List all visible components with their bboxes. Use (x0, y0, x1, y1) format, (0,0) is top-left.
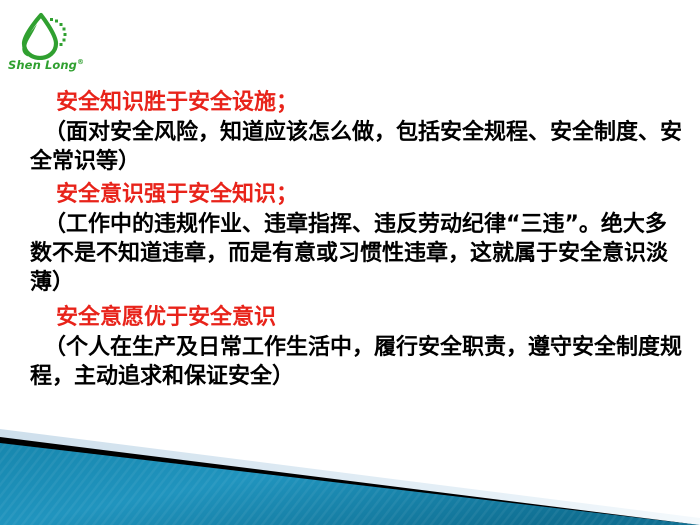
banner-black-band (0, 437, 700, 525)
paragraph-3: （个人在生产及日常工作生活中，履行安全职责，遵守安全制度规程，主动追求和保证安全… (0, 333, 700, 391)
paragraph-2: （工作中的违规作业、违章指挥、违反劳动纪律“三违”。绝大多数不是不知道违章，而是… (0, 210, 700, 297)
heading-3: 安全意愿优于安全意识 (0, 303, 700, 333)
paragraph-1: （面对安全风险，知道应该怎么做，包括安全规程、安全制度、安全常识等） (0, 118, 700, 176)
logo-wordmark-text: Shen Long (8, 58, 77, 72)
heading-1: 安全知识胜于安全设施； (0, 88, 700, 118)
presentation-slide: Shen Long® 安全知识胜于安全设施； （面对安全风险，知道应该怎么做，包… (0, 0, 700, 525)
logo-wordmark: Shen Long® (8, 58, 80, 72)
water-drop-logo-icon (10, 12, 72, 60)
registered-trademark-icon: ® (77, 58, 84, 66)
bottom-decorative-banner (0, 415, 700, 525)
banner-teal-band (0, 443, 700, 525)
banner-pale-band (0, 429, 700, 525)
company-logo: Shen Long® (8, 12, 80, 80)
slide-body: 安全知识胜于安全设施； （面对安全风险，知道应该怎么做，包括安全规程、安全制度、… (0, 88, 700, 391)
heading-2: 安全意识强于安全知识； (0, 180, 700, 210)
